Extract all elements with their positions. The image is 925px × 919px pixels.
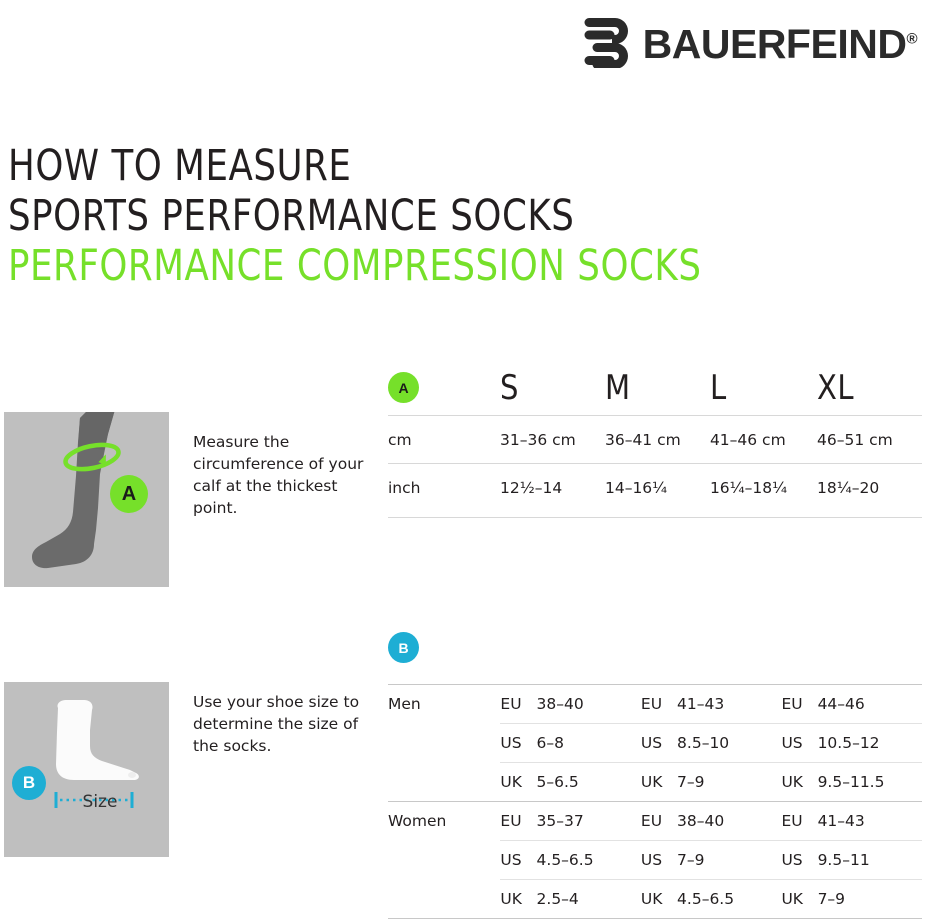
group-label-women: Women (388, 802, 500, 841)
headline-line-1: HOW TO MEASURE (8, 141, 799, 191)
instruction-text-calf: Measure the circumference of your calf a… (193, 431, 373, 519)
unit-men-us-3: US (781, 724, 817, 763)
size-header-l-label: L (710, 368, 727, 408)
badge-a-cell: A (388, 360, 500, 416)
unit-women-eu-1: EU (500, 802, 536, 841)
table-row-men-uk: UK 5–6.5 UK 7–9 UK 9.5–11.5 (388, 763, 922, 802)
cell-men-uk-2: 7–9 (677, 763, 781, 802)
unit-women-us-1: US (500, 841, 536, 880)
cell-men-eu-2: 41–43 (677, 685, 781, 724)
table-row-women-us: US 4.5–6.5 US 7–9 US 9.5–11 (388, 841, 922, 880)
unit-women-us-2: US (641, 841, 677, 880)
table-bottom-rule (388, 517, 922, 518)
bauerfeind-b-logo-icon (575, 16, 633, 72)
table-row-men-us: US 6–8 US 8.5–10 US 10.5–12 (388, 724, 922, 763)
badge-b: B (388, 632, 419, 663)
size-header-l: L (710, 360, 817, 416)
calf-circumference-table: A S M L XL cm 31–36 cm 36–41 cm 41–46 cm… (388, 360, 922, 511)
table-row-men-eu: Men EU 38–40 EU 41–43 EU 44–46 (388, 685, 922, 724)
cell-men-us-2: 8.5–10 (677, 724, 781, 763)
table-row-women-uk: UK 2.5–4 UK 4.5–6.5 UK 7–9 (388, 880, 922, 919)
unit-men-eu-1: EU (500, 685, 536, 724)
cell-inch-xl: 18¼–20 (817, 464, 922, 512)
cell-men-us-1: 6–8 (537, 724, 641, 763)
table-header-row: A S M L XL (388, 360, 922, 416)
cell-men-uk-1: 5–6.5 (537, 763, 641, 802)
unit-men-uk-1: UK (500, 763, 536, 802)
cell-men-us-3: 10.5–12 (818, 724, 922, 763)
headline-line-2: SPORTS PERFORMANCE SOCKS (8, 191, 799, 241)
cell-women-eu-2: 38–40 (677, 802, 781, 841)
row-label-cm: cm (388, 416, 500, 464)
badge-a: A (388, 372, 419, 403)
badge-b-illustration: B (12, 766, 46, 800)
headline-line-3: PERFORMANCE COMPRESSION SOCKS (8, 241, 799, 291)
unit-women-eu-2: EU (641, 802, 677, 841)
cell-men-eu-3: 44–46 (818, 685, 922, 724)
table-row: inch 12½–14 14–16¼ 16¼–18¼ 18¼–20 (388, 464, 922, 512)
instruction-text-shoe: Use your shoe size to determine the size… (193, 691, 373, 757)
cell-cm-m: 36–41 cm (605, 416, 710, 464)
cell-men-uk-3: 9.5–11.5 (818, 763, 922, 802)
row-label-inch: inch (388, 464, 500, 512)
unit-women-uk-3: UK (781, 880, 817, 919)
table-row-women-eu: Women EU 35–37 EU 38–40 EU 41–43 (388, 802, 922, 841)
cell-women-us-3: 9.5–11 (818, 841, 922, 880)
cell-men-eu-1: 38–40 (537, 685, 641, 724)
shoe-size-table: Men EU 38–40 EU 41–43 EU 44–46 US 6–8 US… (388, 684, 922, 919)
group-label-men: Men (388, 685, 500, 724)
page-title: HOW TO MEASURE SPORTS PERFORMANCE SOCKS … (8, 141, 868, 291)
unit-women-eu-3: EU (781, 802, 817, 841)
spacer-cell (388, 841, 500, 880)
spacer-cell (388, 724, 500, 763)
brand-name: BAUERFEIND® (643, 24, 917, 65)
size-header-m: M (605, 360, 710, 416)
table-row: cm 31–36 cm 36–41 cm 41–46 cm 46–51 cm (388, 416, 922, 464)
cell-women-eu-3: 41–43 (818, 802, 922, 841)
unit-men-eu-3: EU (781, 685, 817, 724)
cell-cm-xl: 46–51 cm (817, 416, 922, 464)
unit-men-eu-2: EU (641, 685, 677, 724)
cell-women-eu-1: 35–37 (537, 802, 641, 841)
cell-inch-m: 14–16¼ (605, 464, 710, 512)
unit-men-uk-3: UK (781, 763, 817, 802)
size-header-m-label: M (605, 368, 631, 408)
unit-men-us-2: US (641, 724, 677, 763)
size-header-s-label: S (500, 368, 519, 408)
spacer-cell (388, 880, 500, 919)
size-ruler-label: Size (60, 792, 140, 812)
brand-logo: BAUERFEIND® (575, 14, 917, 74)
unit-women-us-3: US (781, 841, 817, 880)
cell-women-uk-1: 2.5–4 (537, 880, 641, 919)
registered-trademark-icon: ® (906, 30, 917, 47)
cell-inch-s: 12½–14 (500, 464, 605, 512)
brand-name-text: BAUERFEIND (643, 21, 907, 67)
cell-women-us-2: 7–9 (677, 841, 781, 880)
cell-cm-l: 41–46 cm (710, 416, 817, 464)
unit-men-us-1: US (500, 724, 536, 763)
cell-women-uk-3: 7–9 (818, 880, 922, 919)
badge-a-illustration: A (110, 475, 148, 513)
unit-men-uk-2: UK (641, 763, 677, 802)
badge-b-cell: B (388, 632, 419, 663)
cell-women-uk-2: 4.5–6.5 (677, 880, 781, 919)
size-header-xl: XL (817, 360, 922, 416)
cell-cm-s: 31–36 cm (500, 416, 605, 464)
spacer-cell (388, 763, 500, 802)
unit-women-uk-2: UK (641, 880, 677, 919)
size-header-xl-label: XL (817, 368, 854, 408)
unit-women-uk-1: UK (500, 880, 536, 919)
size-header-s: S (500, 360, 605, 416)
cell-inch-l: 16¼–18¼ (710, 464, 817, 512)
cell-women-us-1: 4.5–6.5 (537, 841, 641, 880)
